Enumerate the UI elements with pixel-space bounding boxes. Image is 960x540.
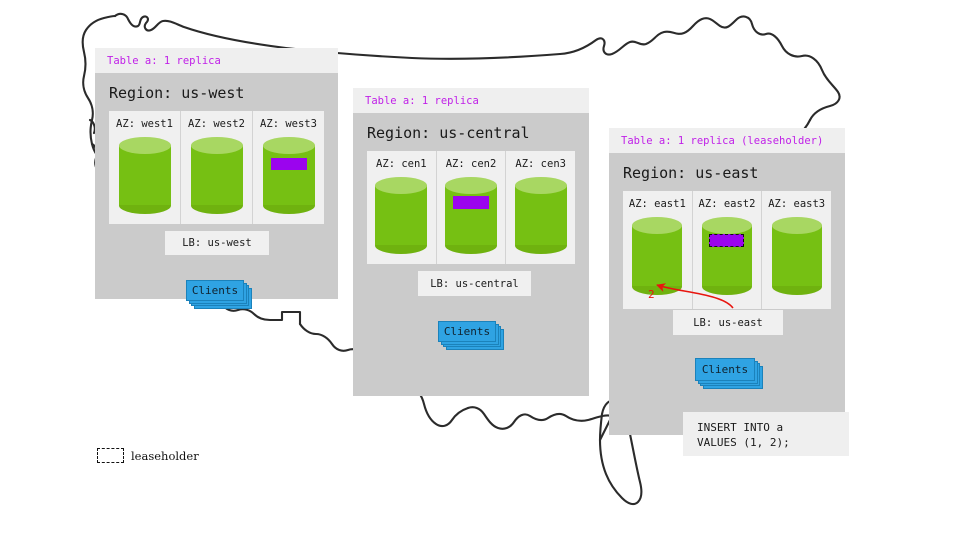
az-label: AZ: west3 — [260, 118, 317, 130]
az-label: AZ: west2 — [188, 118, 245, 130]
clients-label: Clients — [702, 363, 748, 376]
node-cylinder-west2[interactable] — [191, 137, 243, 214]
region-title: Region: us-central — [353, 113, 589, 151]
az-label: AZ: cen1 — [376, 158, 427, 170]
az-label: AZ: east3 — [768, 198, 825, 210]
legend: leaseholder — [97, 448, 199, 463]
region-title: Region: us-west — [95, 73, 338, 111]
region-panel-us-east: Table a: 1 replica (leaseholder) Region:… — [609, 128, 845, 435]
region-replica-label: Table a: 1 replica — [107, 55, 326, 67]
node-cylinder-east3[interactable] — [772, 217, 822, 295]
region-replica-label: Table a: 1 replica (leaseholder) — [621, 135, 833, 147]
lb-label: LB: us-east — [693, 317, 763, 329]
az-label: AZ: west1 — [116, 118, 173, 130]
region-header-us-east: Table a: 1 replica (leaseholder) — [609, 128, 845, 153]
region-body-us-central: Region: us-central AZ: cen1 AZ: cen2 — [353, 113, 589, 396]
az-label: AZ: cen2 — [446, 158, 497, 170]
node-cylinder-cen2[interactable] — [445, 177, 497, 254]
cylinder-body — [445, 185, 497, 245]
region-header-us-west: Table a: 1 replica — [95, 48, 338, 73]
node-cylinder-cen3[interactable] — [515, 177, 567, 254]
az-cell-cen2[interactable]: AZ: cen2 — [437, 151, 507, 264]
az-row: AZ: cen1 AZ: cen2 — [367, 151, 575, 264]
arrow-step-label-2: 2 — [648, 288, 655, 301]
cylinder-top — [772, 217, 822, 234]
load-balancer-us-central[interactable]: LB: us-central — [418, 271, 531, 296]
cylinder-top — [263, 137, 315, 154]
az-cell-cen3[interactable]: AZ: cen3 — [506, 151, 575, 264]
load-balancer-us-east[interactable]: LB: us-east — [673, 310, 783, 335]
region-header-us-central: Table a: 1 replica — [353, 88, 589, 113]
az-cell-west1[interactable]: AZ: west1 — [109, 111, 181, 224]
region-body-us-west: Region: us-west AZ: west1 AZ: west2 — [95, 73, 338, 299]
az-cell-cen1[interactable]: AZ: cen1 — [367, 151, 437, 264]
cylinder-top — [191, 137, 243, 154]
az-cell-east3[interactable]: AZ: east3 — [762, 191, 831, 309]
az-cell-west2[interactable]: AZ: west2 — [181, 111, 253, 224]
lb-label: LB: us-central — [430, 278, 519, 290]
az-label: AZ: cen3 — [515, 158, 566, 170]
node-cylinder-east1[interactable] — [632, 217, 682, 295]
cylinder-top — [119, 137, 171, 154]
clients-label: Clients — [192, 284, 238, 297]
cylinder-top — [375, 177, 427, 194]
leaseholder-replica-marker-east2 — [709, 234, 744, 247]
sql-statement-note: INSERT INTO a VALUES (1, 2); — [683, 412, 849, 456]
node-cylinder-east2[interactable] — [702, 217, 752, 295]
clients-stack-us-east[interactable]: Clients — [695, 358, 765, 388]
clients-button-us-east[interactable]: Clients — [695, 358, 755, 381]
region-panel-us-central: Table a: 1 replica Region: us-central AZ… — [353, 88, 589, 396]
node-cylinder-west3[interactable] — [263, 137, 315, 214]
az-row: AZ: west1 AZ: west2 AZ — [109, 111, 324, 224]
replica-marker-west3 — [271, 158, 307, 170]
lb-label: LB: us-west — [182, 237, 252, 249]
cylinder-body — [119, 145, 171, 205]
clients-stack-us-central[interactable]: Clients — [438, 321, 504, 349]
region-title: Region: us-east — [609, 153, 845, 191]
region-body-us-east: Region: us-east AZ: east1 AZ: east2 — [609, 153, 845, 435]
az-label: AZ: east2 — [699, 198, 756, 210]
cylinder-body — [263, 145, 315, 205]
clients-button-us-west[interactable]: Clients — [186, 280, 244, 301]
az-cell-east1[interactable]: AZ: east1 — [623, 191, 693, 309]
clients-stack-us-west[interactable]: Clients — [186, 280, 252, 308]
cylinder-top — [632, 217, 682, 234]
cylinder-top — [515, 177, 567, 194]
node-cylinder-cen1[interactable] — [375, 177, 427, 254]
cylinder-body — [772, 225, 822, 286]
cylinder-body — [632, 225, 682, 286]
clients-button-us-central[interactable]: Clients — [438, 321, 496, 342]
load-balancer-us-west[interactable]: LB: us-west — [165, 231, 269, 255]
cylinder-body — [515, 185, 567, 245]
clients-label: Clients — [444, 325, 490, 338]
leaseholder-swatch-icon — [97, 448, 124, 463]
az-cell-west3[interactable]: AZ: west3 — [253, 111, 324, 224]
cylinder-body — [375, 185, 427, 245]
replica-marker-cen2 — [453, 196, 489, 209]
cylinder-body — [191, 145, 243, 205]
diagram-canvas: Table a: 1 replica Region: us-west AZ: w… — [0, 0, 960, 540]
legend-label: leaseholder — [131, 449, 199, 463]
cylinder-top — [445, 177, 497, 194]
az-label: AZ: east1 — [629, 198, 686, 210]
cylinder-top — [702, 217, 752, 234]
region-panel-us-west: Table a: 1 replica Region: us-west AZ: w… — [95, 48, 338, 299]
node-cylinder-west1[interactable] — [119, 137, 171, 214]
region-replica-label: Table a: 1 replica — [365, 95, 577, 107]
az-cell-east2[interactable]: AZ: east2 — [693, 191, 763, 309]
